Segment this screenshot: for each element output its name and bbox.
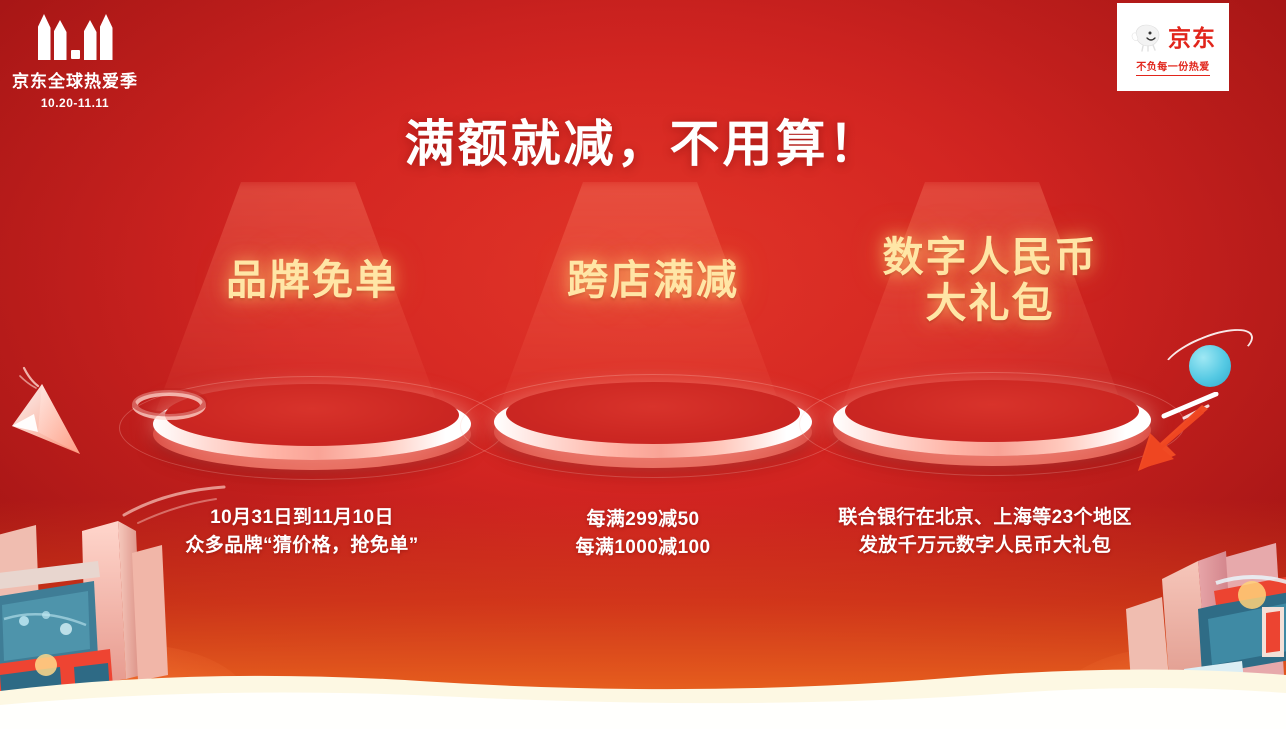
joy-dog-mascot-icon (1130, 20, 1164, 52)
column-heading-3-line2: 大礼包 (810, 281, 1170, 327)
logo-bar-3 (84, 20, 97, 60)
eleven-eleven-mark (12, 14, 138, 60)
podium-3 (827, 378, 1157, 466)
logo-dot (71, 50, 80, 59)
column-heading-3: 数字人民币 大礼包 (810, 235, 1170, 327)
podium-2-top (506, 382, 800, 444)
promo-banner: 京东全球热爱季 10.20-11.11 京东 不负每一份热爱 满额就减，不用算！… (0, 0, 1286, 729)
campaign-logo: 京东全球热爱季 10.20-11.11 (12, 14, 138, 110)
column-heading-2-line1: 跨店满减 (473, 258, 833, 304)
column-heading-1: 品牌免单 (132, 258, 492, 304)
column-heading-1-line1: 品牌免单 (132, 258, 492, 304)
podium-1-top (165, 384, 459, 446)
jd-logo-row: 京东 (1130, 19, 1216, 53)
logo-bar-2 (54, 20, 67, 60)
podium-3-top (845, 380, 1139, 442)
podium-2 (488, 380, 818, 468)
jd-slogan: 不负每一份热爱 (1136, 58, 1210, 76)
campaign-name: 京东全球热爱季 (12, 67, 138, 92)
bottom-wave (0, 619, 1286, 729)
logo-bar-4 (100, 14, 113, 60)
ring-swirl-icon (130, 388, 208, 422)
arrow-down-left-icon (1132, 405, 1214, 477)
jd-brand-text: 京东 (1168, 19, 1216, 53)
jd-brand-logo: 京东 不负每一份热爱 (1117, 3, 1229, 91)
paper-plane-icon (8, 362, 104, 462)
logo-bar-1 (38, 14, 51, 60)
page-title: 满额就减，不用算！ (0, 104, 1286, 176)
column-heading-3-line1: 数字人民币 (810, 235, 1170, 281)
column-heading-2: 跨店满减 (473, 258, 833, 304)
